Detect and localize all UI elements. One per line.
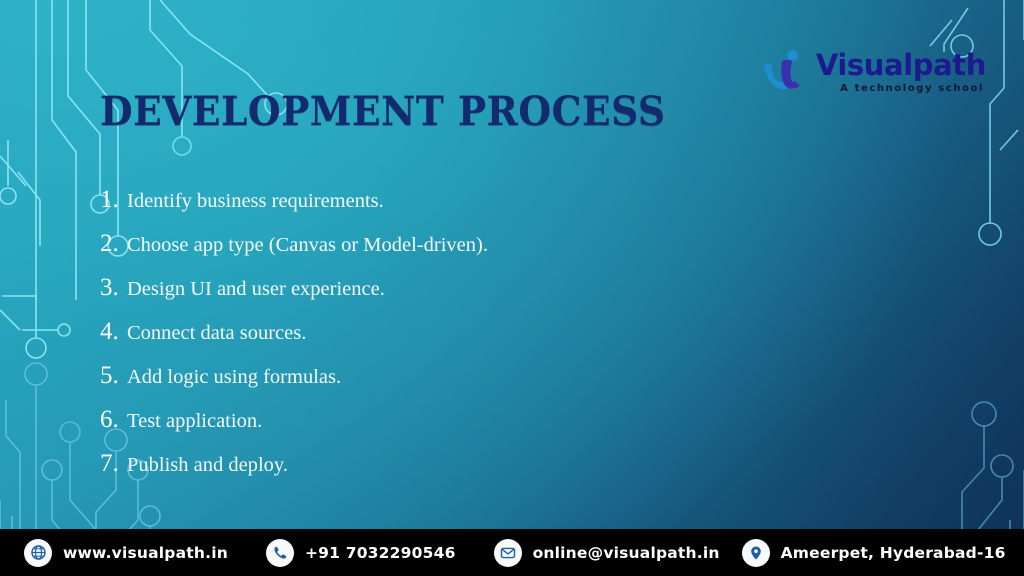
list-item: 1. Identify business requirements. xyxy=(100,187,740,231)
step-number: 7. xyxy=(100,451,127,476)
process-steps-list: 1. Identify business requirements. 2. Ch… xyxy=(100,187,740,495)
email-label: online@visualpath.in xyxy=(533,544,720,562)
step-text: Connect data sources. xyxy=(127,323,306,344)
step-number: 1. xyxy=(100,187,127,212)
list-item: 3. Design UI and user experience. xyxy=(100,275,740,319)
footer-website[interactable]: www.visualpath.in xyxy=(24,539,228,567)
contact-footer-bar: www.visualpath.in +91 7032290546 online@… xyxy=(0,529,1024,576)
footer-phone[interactable]: +91 7032290546 xyxy=(266,539,456,567)
step-text: Publish and deploy. xyxy=(127,455,288,476)
list-item: 6. Test application. xyxy=(100,407,740,451)
step-text: Add logic using formulas. xyxy=(127,367,341,388)
step-text: Choose app type (Canvas or Model-driven)… xyxy=(127,235,488,256)
brand-logo: Visualpath A technology school xyxy=(761,48,986,96)
address-label: Ameerpet, Hyderabad-16 xyxy=(781,544,1006,562)
slide-title: Development Process xyxy=(100,88,666,135)
visualpath-v-mark-icon xyxy=(761,48,809,96)
step-text: Identify business requirements. xyxy=(127,191,384,212)
list-item: 4. Connect data sources. xyxy=(100,319,740,363)
list-item: 7. Publish and deploy. xyxy=(100,451,740,495)
location-pin-icon xyxy=(742,539,770,567)
list-item: 5. Add logic using formulas. xyxy=(100,363,740,407)
footer-email[interactable]: online@visualpath.in xyxy=(494,539,720,567)
phone-label: +91 7032290546 xyxy=(305,544,456,562)
step-text: Test application. xyxy=(127,411,262,432)
website-label: www.visualpath.in xyxy=(63,544,228,562)
step-number: 3. xyxy=(100,275,127,300)
logo-tagline: A technology school xyxy=(840,84,986,94)
step-number: 6. xyxy=(100,407,127,432)
envelope-icon xyxy=(494,539,522,567)
step-text: Design UI and user experience. xyxy=(127,279,385,300)
step-number: 4. xyxy=(100,319,127,344)
slide: Development Process Visualpath A technol… xyxy=(0,0,1024,576)
phone-icon xyxy=(266,539,294,567)
logo-wordmark: Visualpath xyxy=(816,51,986,80)
step-number: 5. xyxy=(100,363,127,388)
footer-address[interactable]: Ameerpet, Hyderabad-16 xyxy=(742,539,1006,567)
list-item: 2. Choose app type (Canvas or Model-driv… xyxy=(100,231,740,275)
step-number: 2. xyxy=(100,231,127,256)
globe-icon xyxy=(24,539,52,567)
